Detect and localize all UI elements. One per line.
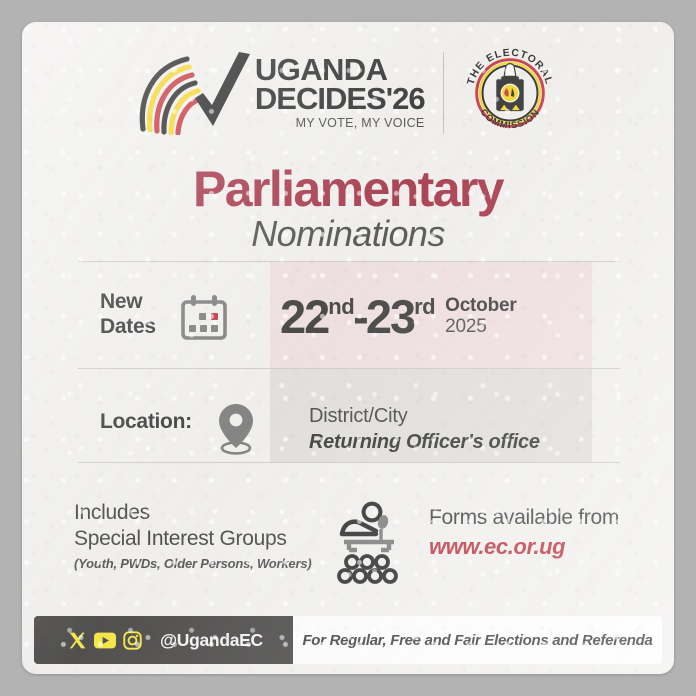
social-icons-group bbox=[68, 631, 149, 650]
location-label: Location: bbox=[100, 410, 192, 434]
brand-tagline: MY VOTE, MY VOICE bbox=[255, 116, 425, 130]
month-year: October 2025 bbox=[445, 296, 516, 337]
day-second: 23 bbox=[366, 293, 414, 340]
includes-block: Includes Special Interest Groups (Youth,… bbox=[74, 500, 311, 572]
divider-middle bbox=[78, 368, 620, 369]
podium-speaker-icon bbox=[332, 500, 408, 584]
instagram-icon[interactable] bbox=[123, 631, 142, 650]
header-logo-row: UGANDA DECIDES'26 MY VOTE, MY VOICE THE … bbox=[22, 44, 674, 142]
electoral-commission-seal-icon: THE ELECTORAL COMMISSION bbox=[461, 44, 559, 142]
dates-label-line1: New bbox=[100, 290, 156, 315]
forms-label: Forms available from bbox=[429, 504, 619, 531]
brand-line1: UGANDA bbox=[255, 56, 425, 85]
month-label: October bbox=[445, 296, 516, 317]
location-value: District/City Returning Officer's office bbox=[309, 404, 540, 455]
forms-block: Forms available from www.ec.or.ug bbox=[429, 504, 619, 562]
forms-url-link[interactable]: www.ec.or.ug bbox=[429, 533, 619, 562]
uganda-decides-logo: UGANDA DECIDES'26 MY VOTE, MY VOICE bbox=[137, 51, 425, 135]
location-line2: Returning Officer's office bbox=[309, 430, 540, 456]
x-icon[interactable] bbox=[68, 631, 87, 650]
location-line1: District/City bbox=[309, 404, 540, 430]
calendar-icon bbox=[179, 294, 229, 342]
social-handle[interactable]: @UgandaEC bbox=[160, 630, 263, 651]
day-first-suffix: nd bbox=[328, 296, 354, 318]
footer-bar: @UgandaEC For Regular, Free and Fair Ele… bbox=[34, 616, 662, 664]
year-label: 2025 bbox=[445, 317, 516, 338]
footer-tagline: For Regular, Free and Fair Elections and… bbox=[302, 632, 652, 649]
day-first: 22 bbox=[280, 293, 328, 340]
includes-note: (Youth, PWDs, Older Persons, Workers) bbox=[74, 556, 311, 572]
day-second-suffix: rd bbox=[414, 296, 435, 318]
page-title: Parliamentary bbox=[22, 164, 674, 214]
poster-card: UGANDA DECIDES'26 MY VOTE, MY VOICE THE … bbox=[22, 22, 674, 674]
map-pin-icon bbox=[216, 402, 256, 457]
includes-line1: Includes bbox=[74, 500, 311, 526]
includes-line2: Special Interest Groups bbox=[74, 526, 311, 552]
page-subtitle: Nominations bbox=[22, 214, 674, 254]
brand-line2: DECIDES'26 bbox=[255, 84, 425, 114]
divider-top bbox=[78, 261, 620, 262]
brand-wordmark: UGANDA DECIDES'26 MY VOTE, MY VOICE bbox=[255, 56, 425, 130]
dates-label-line2: Dates bbox=[100, 315, 156, 340]
dates-value: 22 nd - 23 rd October 2025 bbox=[280, 293, 517, 340]
checkmark-icon bbox=[191, 52, 253, 134]
dates-label: New Dates bbox=[100, 290, 156, 340]
header-divider bbox=[443, 52, 445, 134]
date-range-dash: - bbox=[353, 293, 367, 340]
footer-tagline-section: For Regular, Free and Fair Elections and… bbox=[293, 616, 662, 664]
footer-social-section: @UgandaEC bbox=[34, 616, 293, 664]
youtube-icon[interactable] bbox=[94, 632, 116, 649]
divider-bottom bbox=[78, 462, 620, 463]
